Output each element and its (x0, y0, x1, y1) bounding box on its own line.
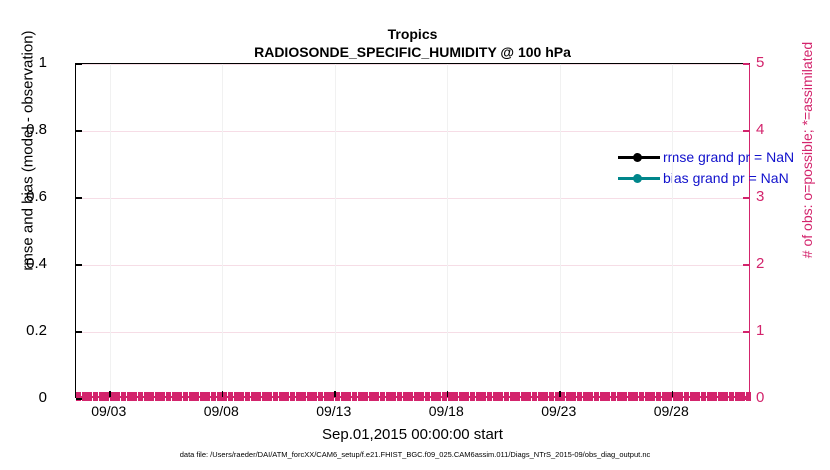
x-axis-title: Sep.01,2015 00:00:00 start (75, 426, 750, 443)
y-tick-right (743, 63, 749, 65)
gridline-vertical (672, 64, 673, 397)
y-tick-left (76, 63, 82, 65)
x-tick-label: 09/08 (186, 403, 256, 419)
legend-item-rmse: rmse grand pr = NaN (618, 148, 794, 166)
obs-baseline (76, 396, 749, 398)
y-tick-right (743, 130, 749, 132)
y-axis-title-right: # of obs: o=possible; *=assimilated (799, 0, 815, 320)
x-tick (222, 391, 224, 397)
y-tick-left (76, 398, 82, 400)
x-tick-label: 09/13 (299, 403, 369, 419)
y-tick-label-left: 0.4 (26, 255, 47, 272)
x-tick-label: 09/28 (636, 403, 706, 419)
gridline-vertical (335, 64, 336, 397)
y-tick-right (743, 331, 749, 333)
y-tick-left (76, 264, 82, 266)
gridline-vertical (560, 64, 561, 397)
y-tick-left (76, 130, 82, 132)
y-tick-right (743, 398, 749, 400)
y-tick-label-right: 5 (756, 54, 764, 71)
y-tick-left (76, 197, 82, 199)
y-tick-label-right: 4 (756, 121, 764, 138)
legend-label-bias: bias grand pr = NaN (660, 170, 789, 186)
x-tick-label: 09/03 (74, 403, 144, 419)
y-tick-label-left: 0.2 (26, 322, 47, 339)
chart-title-block: Tropics RADIOSONDE_SPECIFIC_HUMIDITY @ 1… (75, 26, 750, 62)
y-tick-label-right: 1 (756, 322, 764, 339)
plot-area: rmse grand pr = NaN bias grand pr = NaN (75, 63, 750, 398)
y-tick-label-left: 0 (39, 389, 47, 406)
x-tick (334, 391, 336, 397)
y-tick-label-right: 2 (756, 255, 764, 272)
x-tick (559, 391, 561, 397)
gridline-vertical (447, 64, 448, 397)
page-title: Tropics (75, 26, 750, 43)
y-tick-label-right: 0 (756, 389, 764, 406)
data-file-caption: data file: /Users/raeder/DAI/ATM_forcXX/… (0, 450, 830, 459)
gridline-horizontal (76, 64, 749, 65)
gridline-horizontal (76, 131, 749, 132)
y-tick-label-right: 3 (756, 188, 764, 205)
legend-label-rmse: rmse grand pr = NaN (660, 149, 794, 165)
x-tick (672, 391, 674, 397)
gridline-horizontal (76, 198, 749, 199)
y-tick-label-left: 0.8 (26, 121, 47, 138)
gridline-horizontal (76, 332, 749, 333)
legend-item-bias: bias grand pr = NaN (618, 169, 794, 187)
legend-marker-bias-icon (618, 171, 660, 185)
gridline-horizontal (76, 265, 749, 266)
legend-marker-rmse-icon (618, 150, 660, 164)
x-tick (447, 391, 449, 397)
y-tick-right (743, 197, 749, 199)
x-tick-label: 09/23 (524, 403, 594, 419)
x-tick (109, 391, 111, 397)
x-tick-label: 09/18 (411, 403, 481, 419)
y-tick-left (76, 331, 82, 333)
gridline-vertical (110, 64, 111, 397)
y-tick-label-left: 1 (39, 54, 47, 71)
chart-subtitle: RADIOSONDE_SPECIFIC_HUMIDITY @ 100 hPa (75, 43, 750, 62)
y-tick-right (743, 264, 749, 266)
y-axis-title-left: rmse and bias (model - observation) (20, 0, 37, 321)
gridline-vertical (222, 64, 223, 397)
y-tick-label-left: 0.6 (26, 188, 47, 205)
chart-legend: rmse grand pr = NaN bias grand pr = NaN (618, 148, 794, 187)
